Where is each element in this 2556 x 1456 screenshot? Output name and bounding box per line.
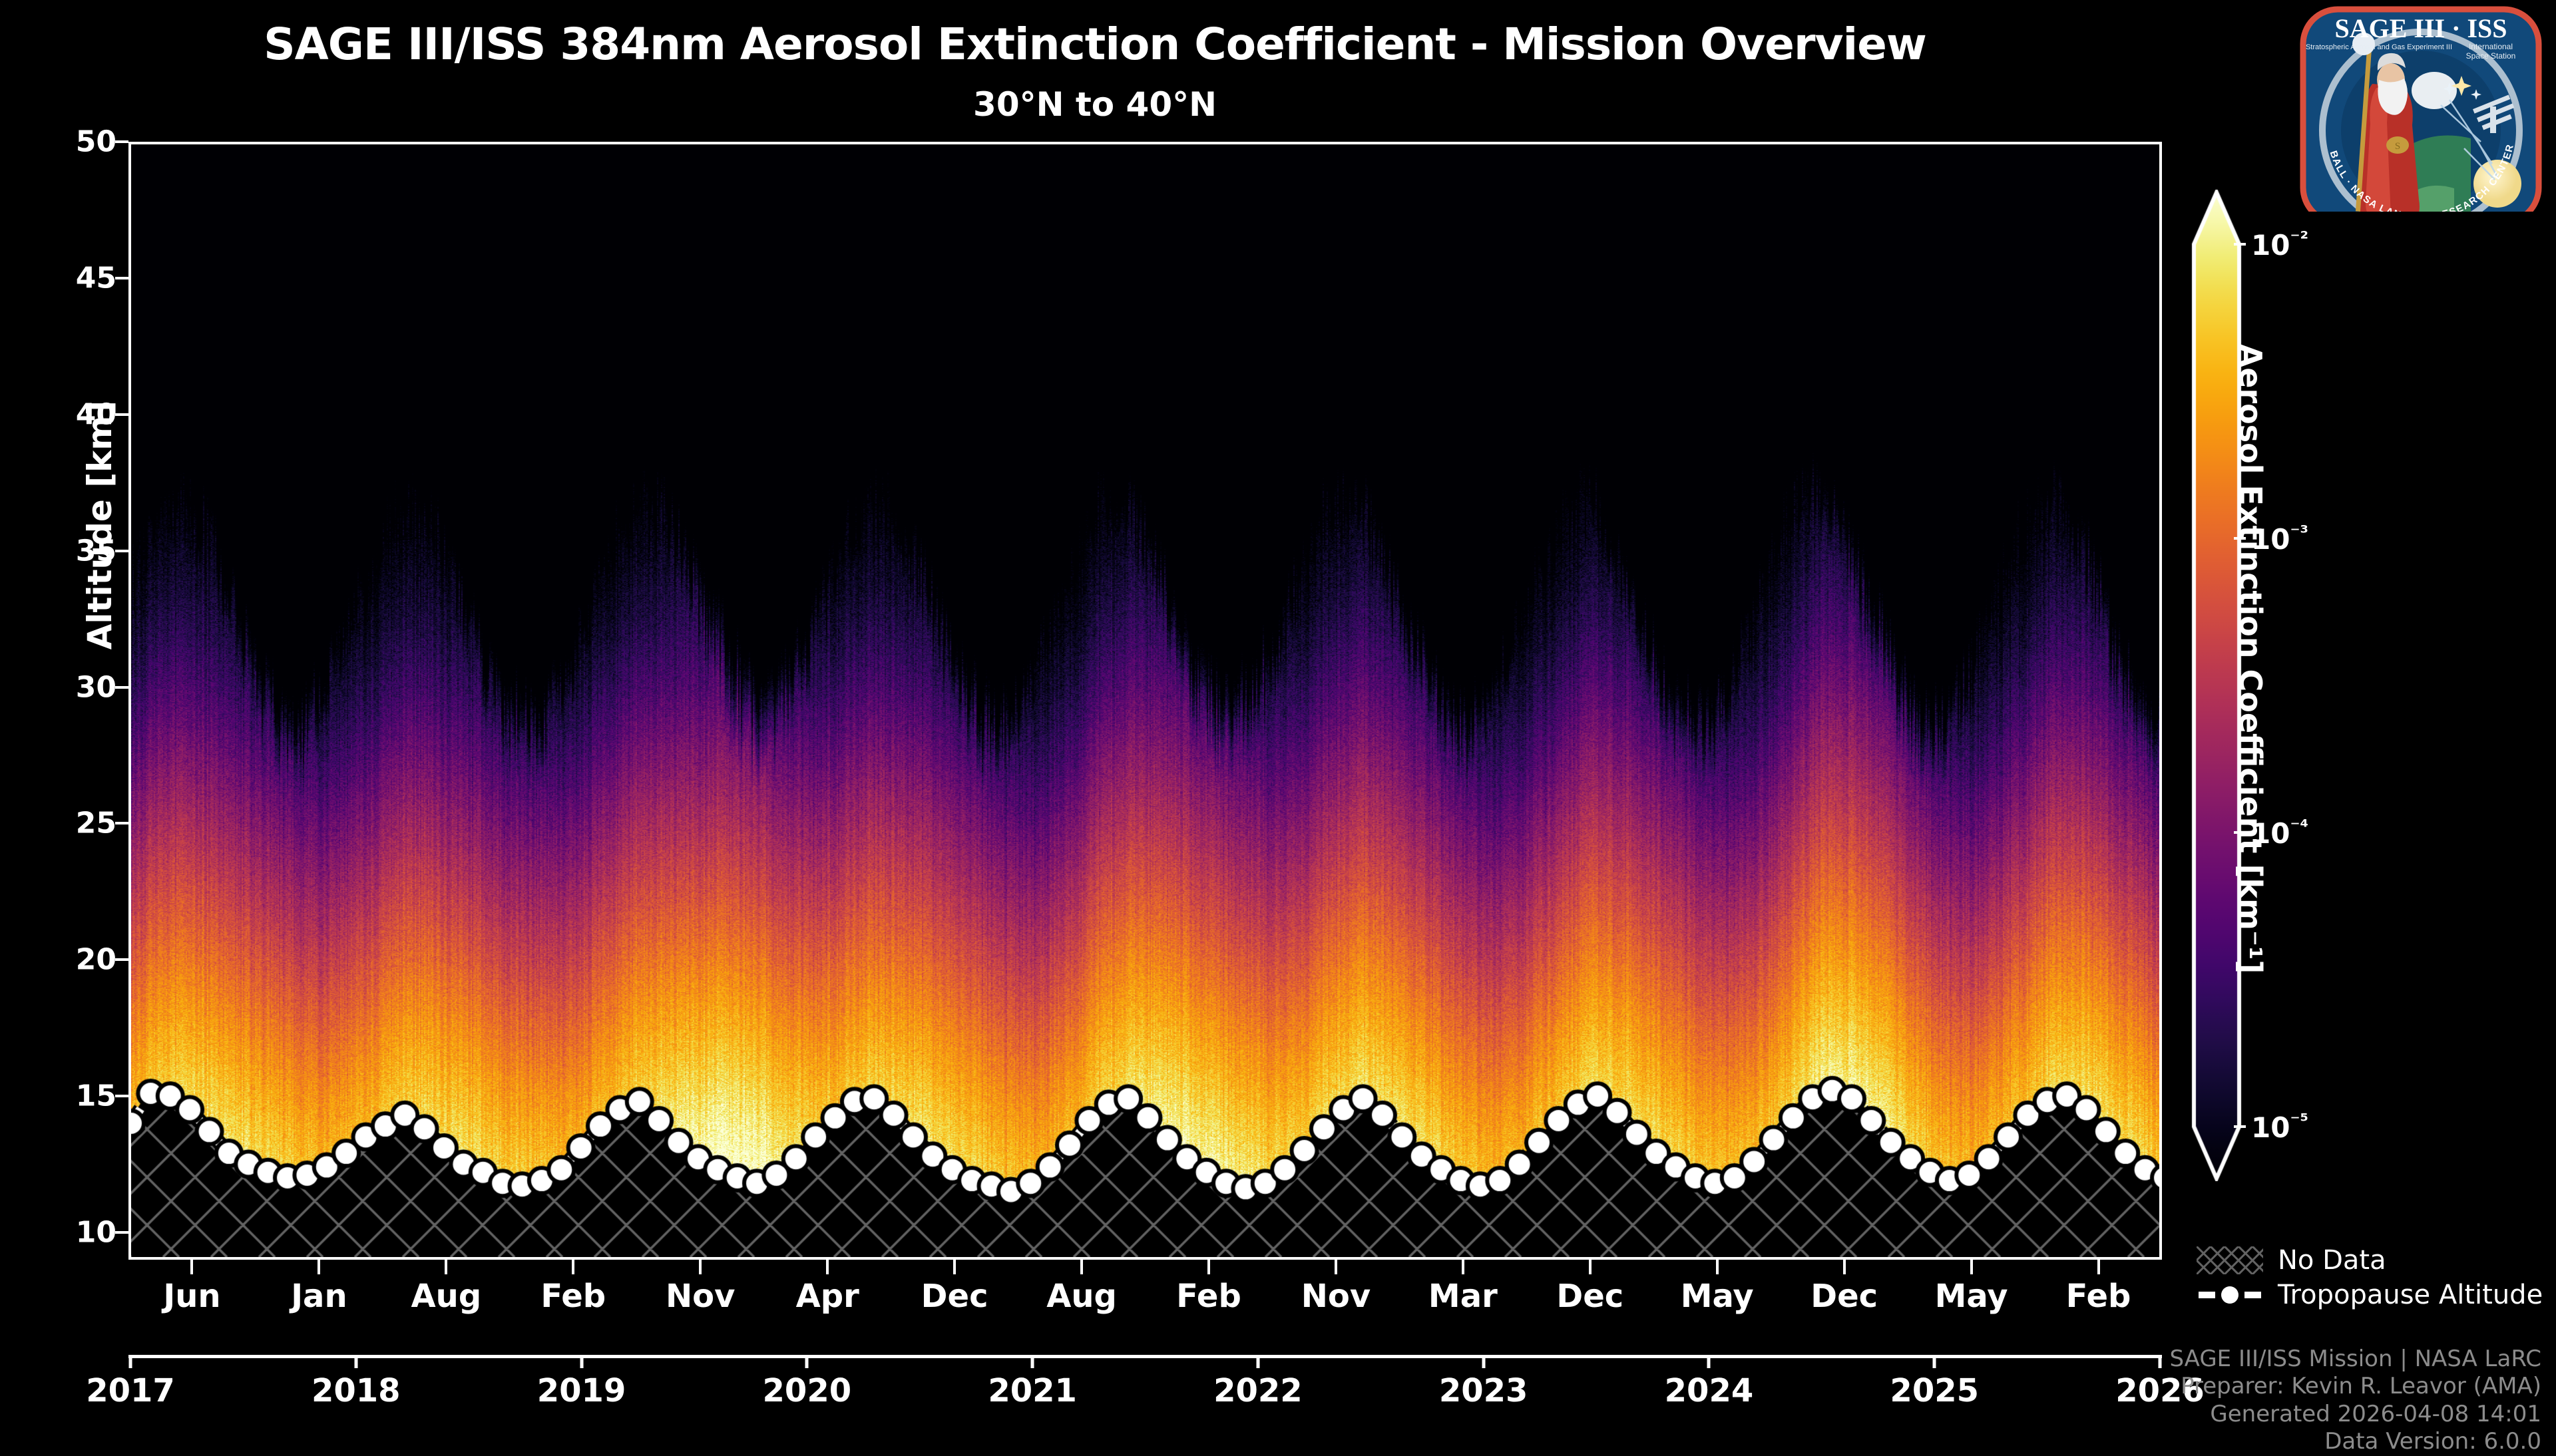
x-axis-year-label: 2024 xyxy=(1665,1372,1754,1409)
x-axis-tick-mark xyxy=(190,1260,193,1274)
y-axis-tick-mark xyxy=(115,822,128,824)
x-axis-tick-mark xyxy=(318,1260,320,1274)
page-title: SAGE III/ISS 384nm Aerosol Extinction Co… xyxy=(0,19,2190,70)
x-axis-tick-mark xyxy=(1716,1260,1719,1274)
sage-iii-iss-mission-patch-logo: S SAGE III · ISS Stratospheric Aerosol a… xyxy=(2298,5,2544,212)
x-axis-tick-mark xyxy=(2097,1260,2100,1274)
y-axis-tick-label: 20 xyxy=(76,943,116,977)
x-axis-tick-mark xyxy=(445,1260,447,1274)
y-axis-tick-mark xyxy=(115,1231,128,1234)
x-axis-month-label: May xyxy=(1935,1278,2008,1315)
year-tick-mark xyxy=(1707,1355,1711,1368)
colorbar-label: Aerosol Extinction Coefficient [km⁻¹] xyxy=(2233,326,2268,992)
hatch-swatch-icon xyxy=(2197,1246,2263,1274)
x-axis-month-label: Dec xyxy=(1556,1278,1623,1315)
dashed-marker-line-icon xyxy=(2197,1281,2263,1309)
footer-line: Data Version: 6.0.0 xyxy=(2169,1428,2541,1455)
footer-line: SAGE III/ISS Mission | NASA LaRC xyxy=(2169,1346,2541,1373)
x-axis-month-label: Apr xyxy=(796,1278,859,1315)
y-axis-tick-label: 15 xyxy=(76,1079,116,1113)
legend: No Data Tropopause Altitude xyxy=(2197,1243,2543,1312)
x-axis-year-label: 2021 xyxy=(988,1372,1077,1409)
year-tick-mark xyxy=(805,1355,809,1368)
colorbar-tick-mark xyxy=(2234,1125,2246,1128)
year-tick-mark xyxy=(1256,1355,1259,1368)
y-axis-tick-label: 25 xyxy=(76,807,116,840)
y-axis-tick-mark xyxy=(115,140,128,143)
x-axis-tick-mark xyxy=(572,1260,574,1274)
tropopause-altitude-line xyxy=(131,144,2162,1260)
year-tick-mark xyxy=(129,1355,132,1368)
y-axis-tick-label: 45 xyxy=(76,261,116,295)
x-axis-tick-mark xyxy=(1335,1260,1337,1274)
y-axis-tick-label: 10 xyxy=(76,1216,116,1250)
x-axis-tick-mark xyxy=(1462,1260,1464,1274)
x-axis-month-label: Feb xyxy=(2066,1278,2131,1315)
colorbar-tick-label: 10⁻² xyxy=(2251,227,2308,262)
x-axis-tick-mark xyxy=(953,1260,956,1274)
figure-root: SAGE III/ISS 384nm Aerosol Extinction Co… xyxy=(0,0,2556,1437)
x-axis-month-label: Mar xyxy=(1428,1278,1498,1315)
y-axis-tick-mark xyxy=(115,277,128,279)
x-axis-tick-mark xyxy=(1970,1260,1973,1274)
legend-item-tropopause: Tropopause Altitude xyxy=(2197,1278,2543,1312)
legend-item-no-data: No Data xyxy=(2197,1243,2543,1278)
footer-line: Preparer: Kevin R. Leavor (AMA) xyxy=(2169,1373,2541,1400)
x-axis-month-label: Aug xyxy=(1046,1278,1117,1315)
x-axis-tick-mark xyxy=(826,1260,829,1274)
year-tick-mark xyxy=(1482,1355,1485,1368)
colorbar-tick-label: 10⁻⁵ xyxy=(2251,1109,2308,1144)
legend-label: No Data xyxy=(2278,1245,2386,1276)
y-axis-tick-label: 50 xyxy=(76,125,116,159)
y-axis-tick-mark xyxy=(115,1095,128,1097)
x-axis-month-label: Jun xyxy=(163,1278,220,1315)
footer-credits: SAGE III/ISS Mission | NASA LaRC Prepare… xyxy=(2169,1346,2541,1456)
x-axis-year-label: 2025 xyxy=(1890,1372,1979,1409)
x-axis-year-label: 2023 xyxy=(1439,1372,1528,1409)
y-axis-tick-mark xyxy=(115,958,128,961)
logo-title: SAGE III · ISS xyxy=(2334,13,2507,43)
year-tick-mark xyxy=(354,1355,357,1368)
logo-subtitle-left: Stratospheric Aerosol and Gas Experiment… xyxy=(2306,43,2452,51)
x-axis-year-label: 2020 xyxy=(763,1372,852,1409)
x-axis-month-label: Nov xyxy=(1301,1278,1371,1315)
x-axis-tick-mark xyxy=(699,1260,702,1274)
heatmap-plot-area[interactable] xyxy=(128,142,2162,1260)
x-axis-tick-mark xyxy=(1843,1260,1846,1274)
footer-line: Generated 2026-04-08 14:01 xyxy=(2169,1401,2541,1428)
colorbar-tick-mark xyxy=(2234,243,2246,246)
x-axis-year-label: 2022 xyxy=(1213,1372,1303,1409)
x-axis-month-label: Dec xyxy=(921,1278,988,1315)
x-axis-month-label: May xyxy=(1681,1278,1754,1315)
x-axis-month-label: Nov xyxy=(666,1278,735,1315)
year-tick-mark xyxy=(2159,1355,2162,1368)
x-axis-month-label: Feb xyxy=(540,1278,606,1315)
logo-subtitle-right-2: Space Station xyxy=(2466,51,2516,61)
x-axis-month-label: Dec xyxy=(1810,1278,1878,1315)
svg-text:S: S xyxy=(2395,141,2400,152)
x-axis-month-label: Aug xyxy=(411,1278,482,1315)
x-axis-month-label: Feb xyxy=(1176,1278,1241,1315)
y-axis-label: Altitude [km] xyxy=(81,325,119,725)
x-axis-tick-mark xyxy=(1080,1260,1083,1274)
x-axis-year-label: 2018 xyxy=(312,1372,401,1409)
year-tick-mark xyxy=(580,1355,583,1368)
page-subtitle: 30°N to 40°N xyxy=(0,85,2190,124)
x-axis-tick-mark xyxy=(1207,1260,1210,1274)
year-tick-mark xyxy=(1031,1355,1034,1368)
x-axis-tick-mark xyxy=(1589,1260,1592,1274)
x-axis-month-label: Jan xyxy=(291,1278,347,1315)
x-axis-year-label: 2017 xyxy=(86,1372,175,1409)
year-tick-mark xyxy=(1933,1355,1936,1368)
legend-label: Tropopause Altitude xyxy=(2278,1280,2543,1310)
x-axis-year-label: 2019 xyxy=(537,1372,626,1409)
year-axis-rule xyxy=(128,1355,2162,1358)
logo-subtitle-right-1: International xyxy=(2469,42,2513,51)
